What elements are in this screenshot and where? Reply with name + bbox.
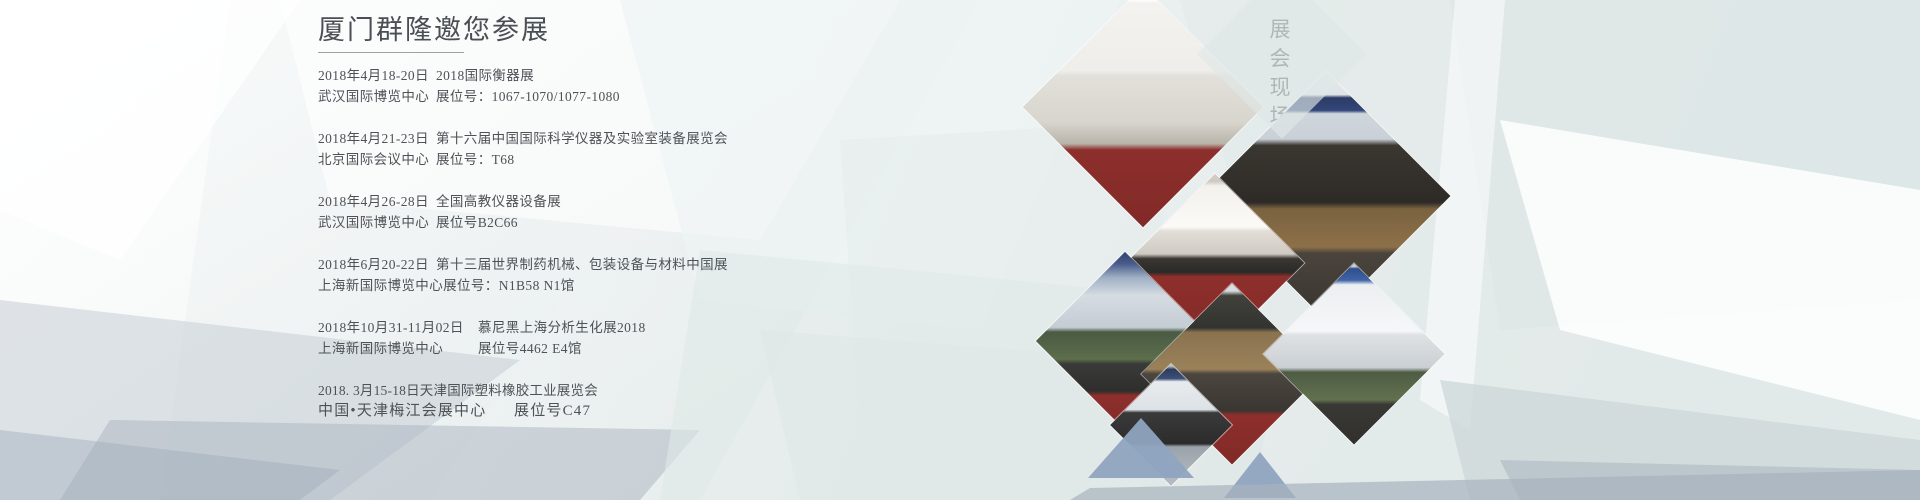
photo-stand-image <box>1263 263 1444 444</box>
exhibition-banner: 厦门群隆邀您参展 2018年4月18-20日 2018国际衡器展 武汉国际博览中… <box>0 0 1920 500</box>
photo-collage <box>0 0 1920 500</box>
photo-stand[interactable] <box>1263 263 1444 444</box>
